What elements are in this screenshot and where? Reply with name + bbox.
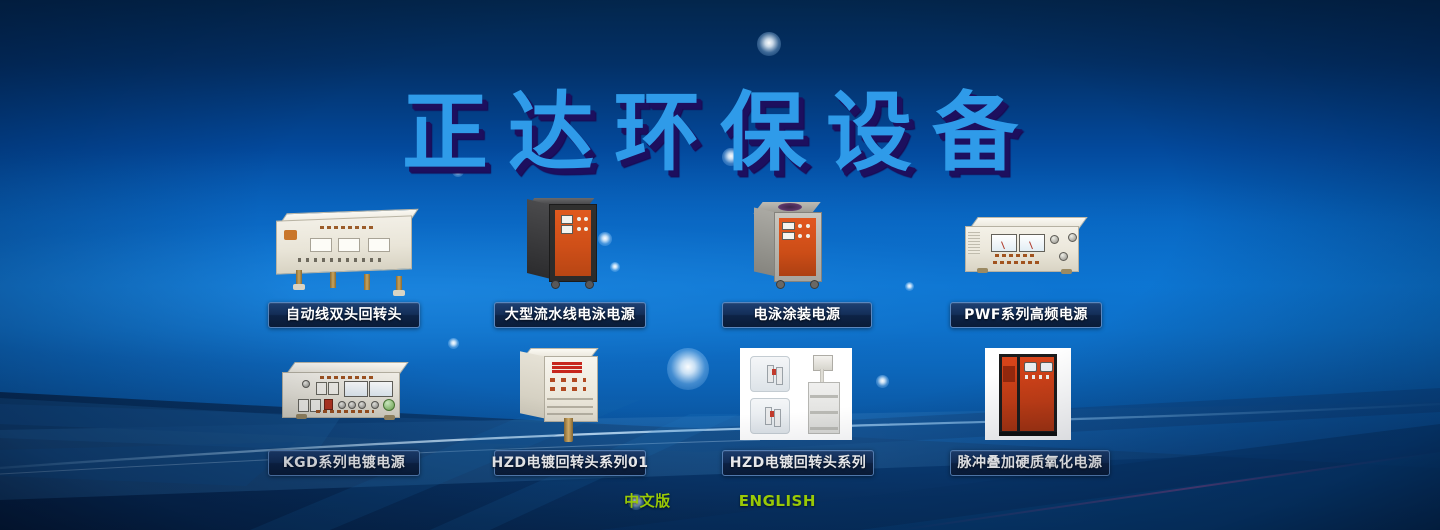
supply-knob [1050,235,1059,244]
supply-vent [968,232,980,254]
bench-indicator-lamp [383,399,395,411]
grey-orange-cabinet-photo[interactable] [752,196,842,296]
beige-benchtop-supply-photo[interactable] [955,212,1095,292]
product-label-auto-line-double-head-rotary[interactable]: 自动线双头回转头 [268,302,420,328]
cabinet-foot [393,290,405,296]
inset-part [774,409,781,427]
cabinet-knob [806,234,810,238]
composite-column [820,369,824,383]
unit-divider [547,398,593,400]
unit-button-row [550,387,586,391]
bench-brand-text [316,410,374,413]
cabinet-leg [364,274,370,290]
cabinet-caster [810,280,819,289]
cabinet-terminal-row [298,258,386,262]
unit-divider [547,406,593,408]
supply-foot [1061,269,1072,274]
bench-emergency-button [324,399,333,410]
background-glow [0,148,1440,440]
cabinet-indicator [1039,375,1042,379]
cabinet-panel [368,238,390,252]
cabinet-side-panel [527,199,551,279]
cabinet-meter [561,215,573,224]
unit-display [552,362,582,374]
cabinet-meter [782,222,795,230]
cabinet-panel [310,238,332,252]
orange-black-tall-cabinet-photo[interactable] [525,196,615,296]
cabinet-caster [776,280,785,289]
language-link-english[interactable]: ENGLISH [739,492,816,510]
product-label-large-line-electrophoresis-power[interactable]: 大型流水线电泳电源 [494,302,646,328]
product-label-electrophoretic-coating-power[interactable]: 电泳涂装电源 [722,302,872,328]
unit-side-panel [520,351,546,419]
unit-button-row [550,378,586,382]
long-beige-cabinet-photo[interactable] [268,208,420,294]
bench-button [371,401,379,409]
product-label-pwf-series-high-frequency-power[interactable]: PWF系列高频电源 [950,302,1102,328]
supply-meter [991,234,1017,252]
cabinet-caster [551,280,560,289]
unit-rotary-shaft [564,418,573,442]
red-double-door-cabinet-photo[interactable] [985,348,1071,440]
bench-display [298,399,309,412]
hzd-series-composite-photo[interactable] [740,348,852,440]
product-label-hzd-plating-rotary-head-series[interactable]: HZD电镀回转头系列 [722,450,874,476]
supply-knob [1059,252,1068,261]
cabinet-leg [330,272,336,288]
inset-part-marker [770,411,774,417]
bench-display [316,382,327,395]
page-title: 正达环保设备 [0,62,1440,187]
cabinet-panel [338,238,360,252]
bench-meter [369,381,393,397]
cabinet-left-recess [1003,366,1015,382]
cabinet-knob [798,224,802,228]
cabinet-knob [584,227,588,231]
supply-knob [1068,233,1077,242]
cabinet-meter [1024,362,1037,372]
bokeh-dot [667,348,709,390]
cabinet-knob [798,234,802,238]
cabinet-meter [782,232,795,240]
cabinet-knob [577,217,581,221]
bench-foot [384,415,395,420]
bench-foot [296,414,307,419]
bench-display [328,382,339,395]
unit-divider [547,413,593,415]
cabinet-side-panel [754,207,776,276]
bokeh-dot [876,375,889,388]
inset-part-marker [772,369,776,375]
stand-shelf [810,395,838,398]
inset-part [776,367,783,385]
stand-shelf [810,411,838,414]
supply-foot [977,268,988,273]
supply-meter [1019,234,1045,252]
cabinet-knob [584,217,588,221]
bokeh-dot [757,32,781,56]
cabinet-meter [561,225,573,234]
cabinet-indicator [1032,375,1035,379]
splash-page: 正达环保设备 [0,0,1440,530]
supply-brand-text [993,261,1039,264]
bench-button [302,380,310,388]
supply-model-text [995,254,1035,257]
cabinet-foot [293,284,305,290]
cabinet-indicator [1025,375,1028,379]
bench-header-text [320,376,374,379]
composite-inset-photo [750,356,790,392]
bokeh-dot [448,338,459,349]
kgd-control-bench-photo[interactable] [272,356,417,440]
product-label-kgd-series-plating-power[interactable]: KGD系列电镀电源 [268,450,420,476]
cabinet-caster [585,280,594,289]
product-label-pulse-superimposed-hard-anodizing-power[interactable]: 脉冲叠加硬质氧化电源 [950,450,1110,476]
bench-button [338,401,346,409]
cabinet-nameplate-text [320,226,376,229]
language-link-chinese[interactable]: 中文版 [624,490,671,511]
cabinet-meter [1040,362,1053,372]
bench-meter [344,381,368,397]
composite-stand [808,382,840,434]
composite-inset-photo [750,398,790,434]
product-label-hzd-plating-rotary-head-series-01[interactable]: HZD电镀回转头系列01 [494,450,646,476]
cabinet-indicator [1046,375,1049,379]
stand-shelf [810,427,838,430]
cabinet-knob [577,227,581,231]
cabinet-top-opening [778,203,802,211]
cabinet-knob [806,224,810,228]
hzd-rotary-head-unit-photo[interactable] [518,344,618,448]
bench-button [358,401,366,409]
bench-button [348,401,356,409]
brand-logo [284,230,297,240]
bokeh-dot [905,282,914,291]
language-bar: 中文版 ENGLISH [0,490,1440,511]
cabinet-base [999,432,1057,436]
